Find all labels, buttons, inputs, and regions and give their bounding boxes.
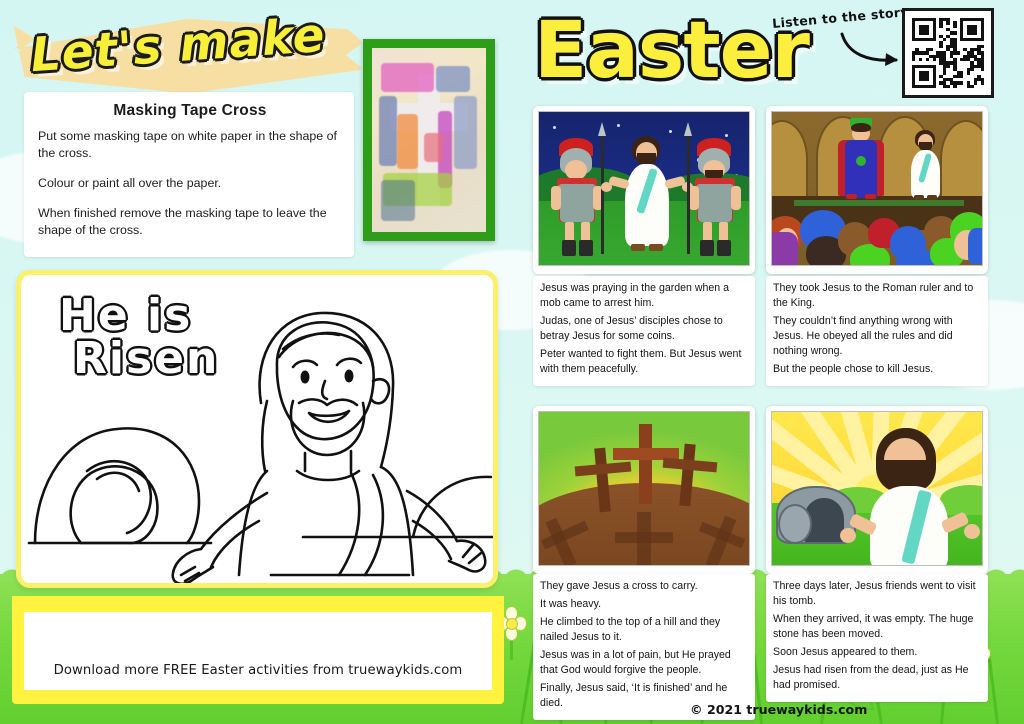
qr-code[interactable] — [902, 8, 994, 98]
crayon-scribble — [436, 66, 470, 92]
curved-arrow-icon — [838, 28, 910, 72]
download-footer-inner — [24, 612, 492, 690]
soldier-arm — [551, 186, 561, 210]
caption-resurrection: Three days later, Jesus friends went to … — [766, 574, 988, 702]
caption-line: They took Jesus to the Roman ruler and t… — [773, 281, 981, 311]
star — [725, 134, 728, 137]
story-panel-garden-arrest — [533, 106, 755, 274]
page-title: Easter — [534, 12, 809, 90]
jesus-sandal — [914, 195, 924, 200]
crayon-scribble — [381, 63, 433, 92]
jesus-hand — [840, 528, 856, 543]
caption-crucifixion: They gave Jesus a cross to carry. It was… — [533, 574, 755, 720]
garden-arrest-illustration — [538, 111, 750, 266]
background-hill — [940, 485, 983, 515]
story-panel-trial — [766, 106, 988, 274]
cross-shadow — [615, 532, 673, 543]
caption-line: It was heavy. — [540, 597, 748, 612]
soldier-boot — [717, 240, 731, 256]
crayon-scribble — [454, 96, 477, 170]
soldier-boot — [562, 240, 576, 256]
caption-line: Jesus had risen from the dead, just as H… — [773, 663, 981, 693]
trial-illustration — [771, 111, 983, 266]
caption-line: Soon Jesus appeared to them. — [773, 645, 981, 660]
copyright-text: © 2021 truewaykids.com — [690, 702, 867, 717]
crayon-scribble — [381, 180, 415, 220]
craft-instructions-card: Masking Tape Cross Put some masking tape… — [24, 92, 354, 257]
soldier-spear — [601, 134, 604, 254]
cross-center — [639, 424, 652, 504]
jesus-sandal — [649, 244, 663, 251]
coloring-page: He is Risen — [16, 270, 498, 588]
download-link-text[interactable]: Download more FREE Easter activities fro… — [24, 663, 492, 678]
soldier-boot — [700, 240, 714, 256]
caption-line: He climbed to the top of a hill and they… — [540, 615, 748, 645]
resurrection-illustration — [771, 411, 983, 566]
star — [669, 130, 672, 133]
soldier-kilt — [698, 206, 732, 222]
craft-step: Colour or paint all over the paper. — [38, 175, 342, 192]
soldier-arm — [731, 186, 741, 210]
craft-example-photo — [363, 39, 495, 241]
caption-line: Jesus was in a lot of pain, but He praye… — [540, 648, 748, 678]
king-robe — [845, 140, 877, 198]
rolled-stone — [778, 504, 812, 544]
king-jewel — [856, 156, 866, 166]
soldier-arm — [689, 186, 699, 210]
crowd-person — [968, 228, 983, 264]
easter-activity-sheet: Let's make Masking Tape Cross Put some m… — [0, 0, 1024, 724]
story-panel-crucifixion — [533, 406, 755, 574]
jesus-hand — [601, 182, 612, 192]
craft-step: When finished remove the masking tape to… — [38, 205, 342, 239]
caption-line: They gave Jesus a cross to carry. — [540, 579, 748, 594]
qr-code-pattern — [912, 18, 984, 88]
palace-arch — [940, 120, 983, 198]
craft-photo-artwork — [372, 48, 486, 232]
soldier-spear — [687, 134, 690, 254]
craft-title: Masking Tape Cross — [38, 102, 342, 120]
soldier-head — [565, 160, 587, 180]
star — [617, 124, 620, 127]
caption-line: When they arrived, it was empty. The hug… — [773, 612, 981, 642]
caption-line: Three days later, Jesus friends went to … — [773, 579, 981, 609]
jesus-sandal — [631, 244, 645, 251]
caption-garden-arrest: Jesus was praying in the garden when a m… — [533, 276, 755, 386]
spear-tip — [684, 122, 692, 136]
caption-trial: They took Jesus to the Roman ruler and t… — [766, 276, 988, 386]
caption-line: They couldn’t find anything wrong with J… — [773, 314, 981, 359]
spear-tip — [598, 122, 606, 136]
jesus-beard — [884, 460, 926, 488]
palace-step — [794, 200, 964, 206]
caption-line: Judas, one of Jesus’ disciples chose to … — [540, 314, 748, 344]
story-panel-resurrection — [766, 406, 988, 574]
caption-line: Jesus was praying in the garden when a m… — [540, 281, 748, 311]
crayon-scribble — [397, 114, 418, 169]
soldier-boot — [579, 240, 593, 256]
king-hair — [851, 123, 871, 132]
star — [553, 126, 556, 129]
soldier-kilt — [560, 206, 594, 222]
caption-line: Peter wanted to fight them. But Jesus we… — [540, 347, 748, 377]
jesus-hand — [964, 524, 980, 539]
crayon-scribble — [424, 133, 442, 162]
three-crosses-illustration — [538, 411, 750, 566]
crayon-scribble — [379, 96, 397, 166]
jesus-empty-tomb-line-art — [21, 275, 498, 588]
craft-step: Put some masking tape on white paper in … — [38, 128, 342, 162]
king-shoe — [846, 194, 857, 199]
jesus-sandal — [927, 195, 937, 200]
crowd-person — [771, 232, 798, 266]
caption-line: But the people chose to kill Jesus. — [773, 362, 981, 377]
king-shoe — [865, 194, 876, 199]
